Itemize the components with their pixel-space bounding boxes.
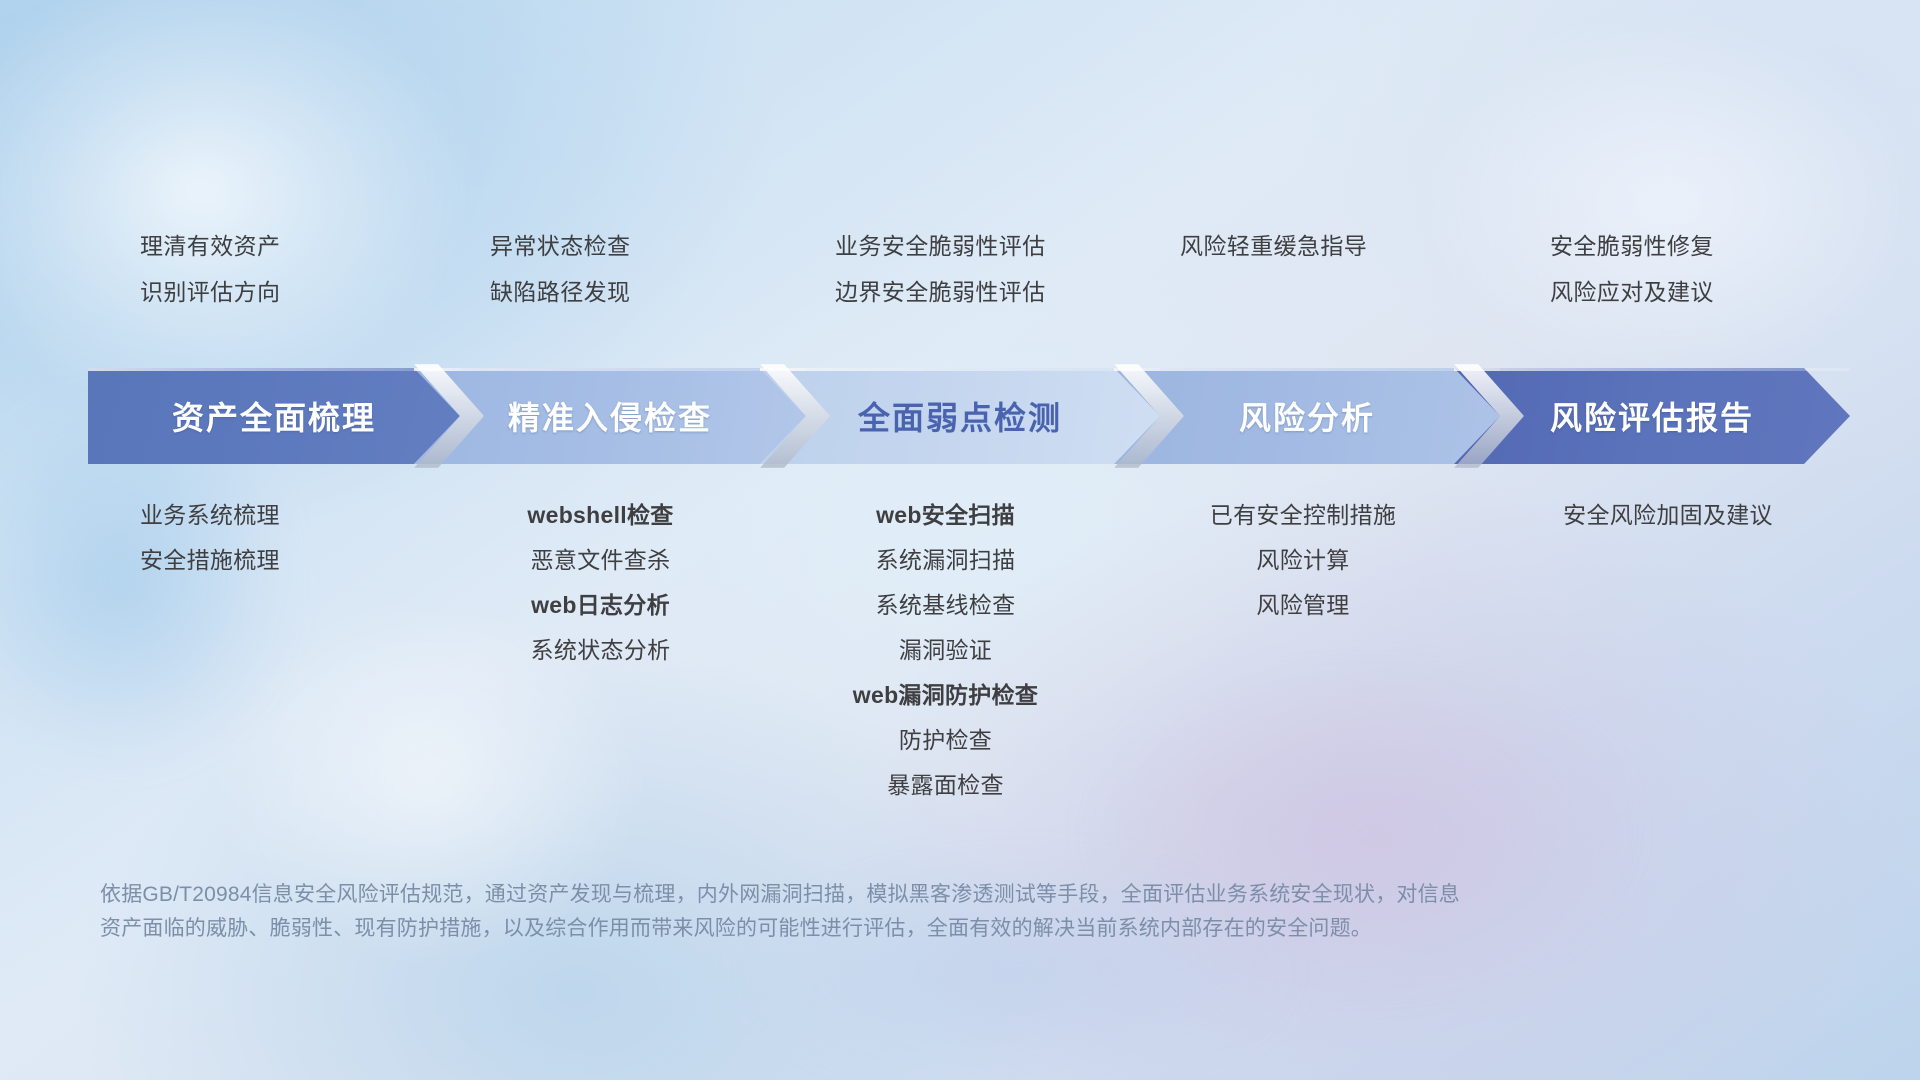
top-caption-item: 异常状态检查 — [490, 232, 630, 262]
top-caption-group-2: 异常状态检查 缺陷路径发现 — [428, 232, 773, 308]
bottom-detail-group-5: 安全风险加固及建议 — [1488, 500, 1848, 531]
footer-description: 依据GB/T20984信息安全风险评估规范，通过资产发现与梳理，内外网漏洞扫描，… — [100, 878, 1720, 946]
bottom-detail-item: 暴露面检查 — [887, 770, 1004, 801]
bottom-detail-item: 风险管理 — [1256, 590, 1349, 621]
bottom-detail-item: 业务系统梳理 — [140, 500, 280, 531]
top-caption-item: 识别评估方向 — [140, 278, 280, 308]
top-caption-row: 理清有效资产 识别评估方向 异常状态检查 缺陷路径发现 业务安全脆弱性评估 边界… — [78, 232, 1848, 308]
bottom-detail-item: 系统漏洞扫描 — [876, 545, 1016, 576]
top-caption-item: 缺陷路径发现 — [490, 278, 630, 308]
bottom-detail-group-2: webshell检查 恶意文件查杀 web日志分析 系统状态分析 — [428, 500, 773, 666]
top-caption-item: 边界安全脆弱性评估 — [835, 278, 1046, 308]
top-caption-list-1: 理清有效资产 识别评估方向 — [78, 232, 428, 308]
chevron-label-1: 资产全面梳理 — [172, 393, 376, 439]
footer-line-2: 资产面临的威胁、脆弱性、现有防护措施，以及综合作用而带来风险的可能性进行评估，全… — [100, 912, 1720, 946]
bottom-detail-item: 防护检查 — [899, 725, 992, 756]
chevron-label-3: 全面弱点检测 — [858, 393, 1062, 439]
top-caption-list-2: 异常状态检查 缺陷路径发现 — [428, 232, 773, 308]
slide-canvas: 理清有效资产 识别评估方向 异常状态检查 缺陷路径发现 业务安全脆弱性评估 边界… — [0, 0, 1920, 1080]
top-caption-group-1: 理清有效资产 识别评估方向 — [78, 232, 428, 308]
bottom-detail-item: web漏洞防护检查 — [853, 680, 1038, 711]
top-caption-list-4: 风险轻重缓急指导 — [1118, 232, 1488, 262]
top-caption-group-5: 安全脆弱性修复 风险应对及建议 — [1488, 232, 1848, 308]
bottom-detail-group-4: 已有安全控制措施 风险计算 风险管理 — [1118, 500, 1488, 621]
top-caption-list-3: 业务安全脆弱性评估 边界安全脆弱性评估 — [773, 232, 1118, 308]
bottom-detail-item: 漏洞验证 — [899, 635, 992, 666]
chevron-label-2: 精准入侵检查 — [508, 393, 712, 439]
top-caption-item: 理清有效资产 — [140, 232, 280, 262]
process-chevron-banner: 资产全面梳理 精准入侵检查 全面弱点检测 风险分析 — [88, 368, 1850, 464]
bottom-detail-group-3: web安全扫描 系统漏洞扫描 系统基线检查 漏洞验证 web漏洞防护检查 防护检… — [773, 500, 1118, 801]
top-caption-item: 安全脆弱性修复 — [1550, 232, 1714, 262]
top-caption-group-3: 业务安全脆弱性评估 边界安全脆弱性评估 — [773, 232, 1118, 308]
top-caption-item: 业务安全脆弱性评估 — [835, 232, 1046, 262]
bottom-detail-item: webshell检查 — [527, 500, 673, 531]
bottom-detail-item: 系统基线检查 — [876, 590, 1016, 621]
bottom-detail-item: 系统状态分析 — [531, 635, 671, 666]
bottom-detail-item: 风险计算 — [1256, 545, 1349, 576]
top-caption-list-5: 安全脆弱性修复 风险应对及建议 — [1488, 232, 1848, 308]
bottom-detail-group-1: 业务系统梳理 安全措施梳理 — [78, 500, 428, 576]
bottom-detail-list-3: web安全扫描 系统漏洞扫描 系统基线检查 漏洞验证 web漏洞防护检查 防护检… — [773, 500, 1118, 801]
bottom-detail-list-1: 业务系统梳理 安全措施梳理 — [78, 500, 428, 576]
top-caption-group-4: 风险轻重缓急指导 — [1118, 232, 1488, 308]
chevron-stage-1[interactable]: 资产全面梳理 — [88, 368, 460, 464]
bottom-detail-item: 安全措施梳理 — [140, 545, 280, 576]
bottom-detail-item: 已有安全控制措施 — [1210, 500, 1396, 531]
chevron-label-4: 风险分析 — [1239, 393, 1375, 439]
top-caption-item: 风险轻重缓急指导 — [1180, 232, 1367, 262]
bottom-detail-item: 安全风险加固及建议 — [1563, 500, 1773, 531]
footer-line-1: 依据GB/T20984信息安全风险评估规范，通过资产发现与梳理，内外网漏洞扫描，… — [100, 878, 1720, 912]
bottom-detail-item: web安全扫描 — [876, 500, 1015, 531]
bottom-detail-list-4: 已有安全控制措施 风险计算 风险管理 — [1118, 500, 1488, 621]
chevron-label-5: 风险评估报告 — [1550, 393, 1754, 439]
bottom-detail-list-5: 安全风险加固及建议 — [1488, 500, 1848, 531]
top-caption-item: 风险应对及建议 — [1550, 278, 1714, 308]
bottom-detail-item: web日志分析 — [531, 590, 670, 621]
bottom-detail-row: 业务系统梳理 安全措施梳理 webshell检查 恶意文件查杀 web日志分析 … — [78, 500, 1848, 801]
bottom-detail-list-2: webshell检查 恶意文件查杀 web日志分析 系统状态分析 — [428, 500, 773, 666]
bottom-detail-item: 恶意文件查杀 — [531, 545, 671, 576]
